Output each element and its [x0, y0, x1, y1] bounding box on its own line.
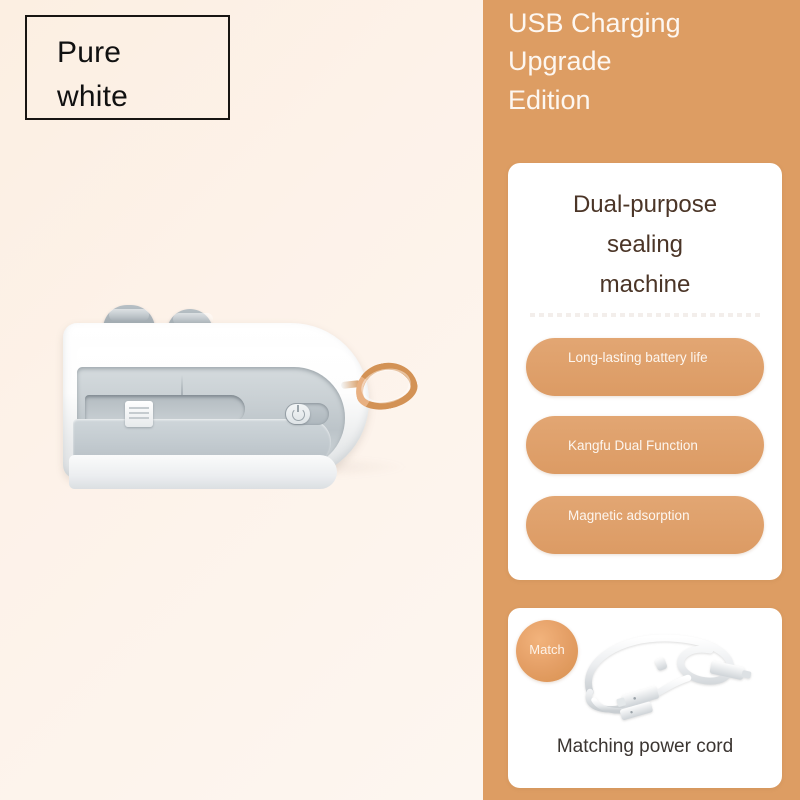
- feature-pill-dual-function-label: Kangfu Dual Function: [568, 436, 754, 456]
- usb-power-cable-icon: [560, 622, 770, 722]
- color-variant-line-1: Pure: [57, 38, 121, 68]
- feature-card-title: Dual-purpose sealing machine: [508, 185, 782, 304]
- color-variant-line-2: white: [57, 82, 128, 112]
- left-panel: Pure white: [0, 0, 483, 800]
- headline-line-2: Upgrade: [508, 42, 788, 80]
- lanyard-loop: [355, 363, 417, 409]
- right-panel: USB Charging Upgrade Edition Dual-purpos…: [483, 0, 800, 800]
- feature-title-line-3: machine: [508, 265, 782, 305]
- accessory-caption: Matching power cord: [508, 736, 782, 758]
- seal-indicator-needle: [181, 375, 183, 395]
- product-photo-bag-sealer: [55, 305, 455, 495]
- accessory-card: Match: [508, 608, 782, 788]
- feature-pill-magnetic-label: Magnetic adsorption: [568, 506, 754, 526]
- power-icon: [292, 408, 305, 421]
- feature-title-line-2: sealing: [508, 225, 782, 265]
- feature-pill-magnetic: Magnetic adsorption: [526, 496, 764, 554]
- feature-card: Dual-purpose sealing machine Long-lastin…: [508, 163, 782, 580]
- headline-line-3: Edition: [508, 81, 788, 119]
- cutter-slider: [125, 401, 153, 427]
- color-variant-label-box: Pure white: [25, 15, 230, 120]
- feature-title-line-1: Dual-purpose: [508, 185, 782, 225]
- sealer-base: [69, 455, 337, 489]
- feature-pill-dual-function: Kangfu Dual Function: [526, 416, 764, 474]
- feature-pill-battery: Long-lasting battery life: [526, 338, 764, 396]
- feature-pill-battery-label: Long-lasting battery life: [568, 348, 754, 368]
- headline: USB Charging Upgrade Edition: [508, 4, 788, 119]
- decorative-divider: [530, 313, 762, 317]
- headline-line-1: USB Charging: [508, 4, 788, 42]
- sealer-body: [63, 323, 369, 479]
- product-marketing-image: Pure white: [0, 0, 800, 800]
